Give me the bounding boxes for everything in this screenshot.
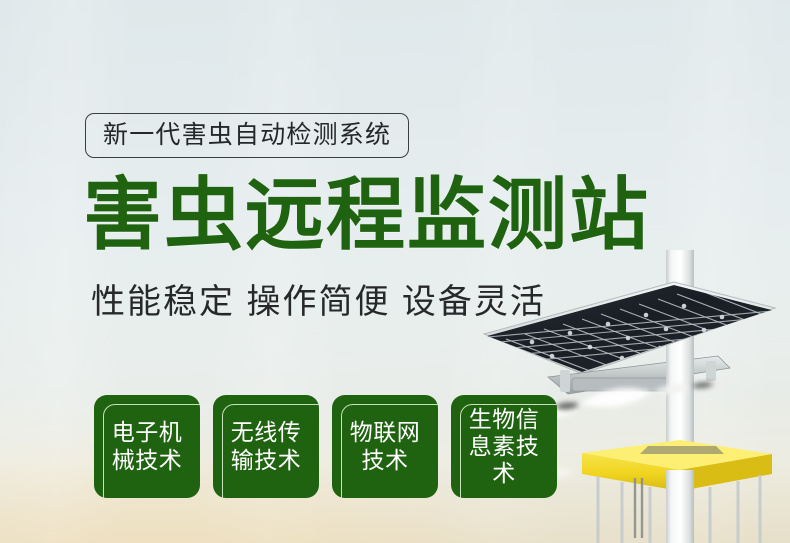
eyebrow-badge: 新一代害虫自动检测系统 <box>85 113 409 158</box>
feature-card-label: 无线传输技术 <box>223 419 309 473</box>
eyebrow-badge-label: 新一代害虫自动检测系统 <box>103 123 391 148</box>
feature-card-list: 电子机械技术 无线传输技术 物联网技术 生物信息素技术 <box>94 395 557 498</box>
page-title: 害虫远程监测站 <box>83 175 650 254</box>
feature-card[interactable]: 电子机械技术 <box>94 395 200 498</box>
trap-center-screw <box>635 478 642 538</box>
page-subtitle: 性能稳定 操作简便 设备灵活 <box>91 281 546 324</box>
feature-card-label: 电子机械技术 <box>104 419 190 473</box>
feature-card[interactable]: 无线传输技术 <box>213 395 319 498</box>
feature-card[interactable]: 物联网技术 <box>332 395 438 498</box>
feature-card-label: 生物信息素技术 <box>461 406 547 487</box>
feature-card[interactable]: 生物信息素技术 <box>451 395 557 498</box>
banner-stage: 新一代害虫自动检测系统 害虫远程监测站 性能稳定 操作简便 设备灵活 电子机械技… <box>0 0 790 543</box>
feature-card-label: 物联网技术 <box>342 419 428 473</box>
